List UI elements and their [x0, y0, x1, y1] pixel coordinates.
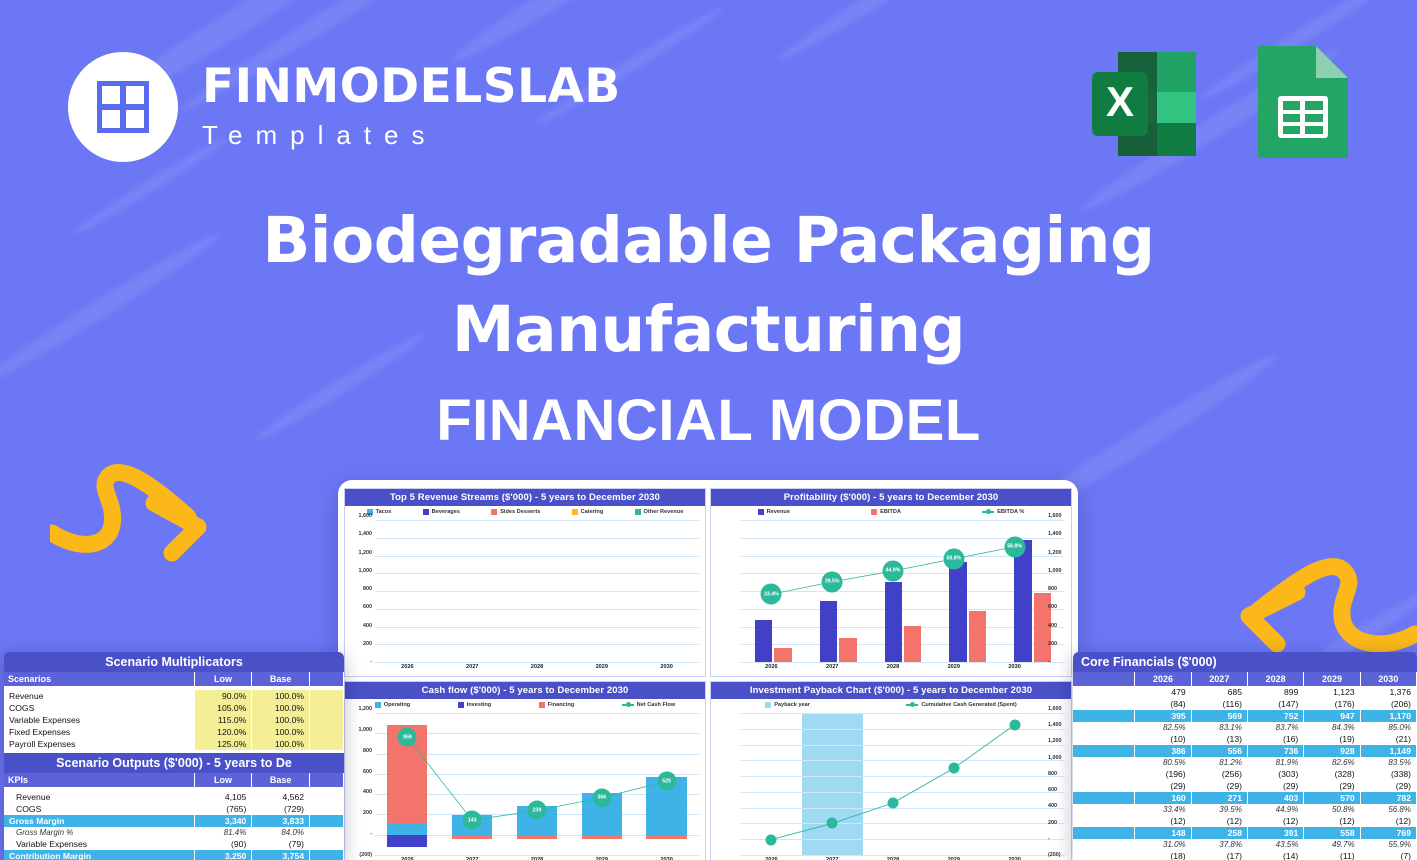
column-header[interactable]: 2027 [1191, 672, 1247, 686]
table-cell: 100.0% [252, 738, 310, 750]
table-cell: 556 [1191, 745, 1247, 757]
table-row[interactable]: (29)(29)(29)(29)(29) [1073, 780, 1417, 792]
table-cell: 83.1% [1191, 722, 1247, 733]
chart-profitability[interactable]: Profitability ($'000) - 5 years to Decem… [710, 488, 1072, 677]
data-label-bubble: 33.4% [761, 584, 782, 605]
x-axis-tick: 2030 [634, 662, 699, 676]
table-cell: 90.0% [194, 690, 252, 702]
data-label-bubble: 56.8% [1004, 536, 1025, 557]
table-cell: 3,250 [194, 850, 252, 860]
row-label [1073, 733, 1135, 745]
table-cell: (11) [1304, 850, 1360, 860]
scenario-multiplicators-title: Scenario Multiplicators [4, 652, 344, 672]
y-axis-tick: 1,200 [1048, 550, 1062, 556]
row-label: Contribution Margin [4, 850, 194, 860]
y-axis-tick: 400 [1048, 623, 1057, 629]
table-row[interactable]: Gross Margin3,3403,833 [4, 815, 344, 827]
table-cell [310, 702, 344, 714]
legend-label: Operating [384, 702, 410, 708]
legend-swatch [572, 509, 578, 515]
row-label: COGS [4, 803, 194, 815]
legend-swatch [539, 702, 545, 708]
legend-item[interactable]: EBITDA [871, 509, 901, 515]
x-axis-tick: 2027 [440, 662, 505, 676]
scenario-sheet[interactable]: Scenario Multiplicators ScenariosLowBase… [4, 652, 344, 860]
table-cell: 769 [1360, 827, 1416, 839]
table-cell: (12) [1304, 815, 1360, 827]
table-cell: (17) [1191, 850, 1247, 860]
svg-text:X: X [1106, 78, 1134, 125]
y-axis-tick: 400 [363, 623, 372, 629]
chart-plot-area: 33.4%39.5%44.9%50.8%56.8% -2004006008001… [711, 516, 1071, 676]
table-cell: (206) [1360, 698, 1416, 710]
table-cell [310, 738, 344, 750]
table-cell: (765) [194, 803, 252, 815]
chart-legend: TacosBeveragesSides DessertsCateringOthe… [345, 506, 705, 516]
table-cell: Revenue [4, 690, 194, 702]
x-axis-tick: 2029 [923, 662, 984, 676]
scenario-multiplicators-table[interactable]: ScenariosLowBase Revenue90.0%100.0%COGS1… [4, 672, 344, 750]
table-cell: 1,123 [1304, 686, 1360, 698]
table-cell: (13) [1191, 733, 1247, 745]
table-cell: 752 [1247, 710, 1303, 722]
table-cell: (729) [252, 803, 310, 815]
brand-tagline: Templates [202, 120, 621, 151]
row-label [1073, 686, 1135, 698]
chart-title: Top 5 Revenue Streams ($'000) - 5 years … [345, 489, 705, 506]
legend-item[interactable]: Beverages [423, 509, 460, 515]
table-row[interactable]: Contribution Margin3,2503,754 [4, 850, 344, 860]
legend-label: Financing [548, 702, 574, 708]
bar-group[interactable] [505, 520, 570, 662]
column-header[interactable]: Low [194, 773, 252, 787]
table-row[interactable]: (12)(12)(12)(12)(12) [1073, 815, 1417, 827]
table-cell: 100.0% [252, 714, 310, 726]
table-row[interactable]: Variable Expenses115.0%100.0% [4, 714, 344, 726]
legend-item[interactable]: Financing [539, 702, 574, 708]
bar-group[interactable] [569, 520, 634, 662]
legend-swatch [906, 704, 918, 706]
legend-swatch [758, 509, 764, 515]
data-label-bubble: 143 [463, 811, 482, 830]
table-cell: 1,149 [1360, 745, 1416, 757]
table-cell: 80.5% [1135, 757, 1191, 768]
table-cell: 81.9% [1247, 757, 1303, 768]
x-axis-tick: 2028 [863, 662, 924, 676]
table-cell: 81.4% [194, 827, 252, 838]
table-cell: 100.0% [252, 702, 310, 714]
table-cell: 271 [1191, 792, 1247, 804]
row-label [1073, 698, 1135, 710]
table-cell: 782 [1360, 792, 1416, 804]
table-cell: (12) [1247, 815, 1303, 827]
legend-label: Cumulative Cash Generated (Spent) [921, 702, 1016, 708]
x-axis-tick: 2029 [569, 662, 634, 676]
row-label [1073, 768, 1135, 780]
table-cell: 391 [1247, 827, 1303, 839]
x-axis-tick: 2026 [375, 855, 440, 860]
table-cell: 1,376 [1360, 686, 1416, 698]
x-axis-tick: 2029 [569, 855, 634, 860]
table-row[interactable]: (10)(13)(16)(19)(21) [1073, 733, 1417, 745]
column-header[interactable]: Base [252, 672, 310, 686]
column-header[interactable] [310, 773, 344, 787]
table-cell: (29) [1135, 780, 1191, 792]
table-cell: (328) [1304, 768, 1360, 780]
table-header-row: ScenariosLowBase [4, 672, 344, 686]
y-axis-tick: 1,200 [1048, 738, 1062, 744]
y-axis-tick: 1,600 [359, 513, 373, 519]
legend-item[interactable]: Sides Desserts [491, 509, 540, 515]
table-row[interactable]: 31.0%37.8%43.5%49.7%55.9% [1073, 839, 1417, 850]
y-axis-tick: 600 [363, 769, 372, 775]
x-axis-tick: 2027 [440, 855, 505, 860]
x-axis-tick: 2028 [505, 855, 570, 860]
table-cell: 50.8% [1304, 804, 1360, 815]
y-axis-tick: 200 [363, 810, 372, 816]
table-cell: 44.9% [1247, 804, 1303, 815]
table-cell: 3,340 [194, 815, 252, 827]
table-cell: (12) [1360, 815, 1416, 827]
table-cell: 570 [1304, 792, 1360, 804]
legend-swatch [423, 509, 429, 515]
table-row[interactable]: COGS105.0%100.0% [4, 702, 344, 714]
table-row[interactable]: (196)(256)(303)(328)(338) [1073, 768, 1417, 780]
data-label-bubble: 50.8% [943, 548, 964, 569]
table-row[interactable]: 148258391558769 [1073, 827, 1417, 839]
table-cell: 105.0% [194, 702, 252, 714]
legend-label: Payback year [774, 702, 810, 708]
chart-investment-payback[interactable]: Investment Payback Chart ($'000) - 5 yea… [710, 681, 1072, 860]
table-cell: 4,562 [252, 791, 310, 803]
y-axis-tick: 800 [363, 748, 372, 754]
brand-name: FINMODELSLAB [202, 63, 621, 110]
table-cell: 4,105 [194, 791, 252, 803]
table-cell: (29) [1191, 780, 1247, 792]
page-title: Biodegradable Packaging Manufacturing FI… [0, 196, 1417, 454]
column-header[interactable]: Low [194, 672, 252, 686]
chart-cash-flow[interactable]: Cash flow ($'000) - 5 years to December … [344, 681, 706, 860]
y-axis-tick: 1,200 [359, 706, 373, 712]
column-header[interactable] [310, 672, 344, 686]
arrow-right-decoration [1187, 548, 1417, 668]
table-cell: 736 [1247, 745, 1303, 757]
table-cell: 56.8% [1360, 804, 1416, 815]
chart-plot-area: (200)-2004006008001,0001,2001,4001,600 2… [711, 709, 1071, 860]
table-cell: 899 [1247, 686, 1303, 698]
bar-group[interactable] [375, 520, 440, 662]
dashboard-preview-card[interactable]: Top 5 Revenue Streams ($'000) - 5 years … [338, 480, 1078, 860]
table-cell: (147) [1247, 698, 1303, 710]
y-axis-tick: 1,600 [1048, 513, 1062, 519]
legend-swatch [491, 509, 497, 515]
table-cell: 395 [1135, 710, 1191, 722]
legend-item[interactable]: Revenue [758, 509, 790, 515]
excel-icon: X [1078, 38, 1206, 166]
legend-swatch [765, 702, 771, 708]
table-cell: 85.0% [1360, 722, 1416, 733]
table-row[interactable]: Revenue4,1054,562 [4, 791, 344, 803]
legend-item[interactable]: Investing [458, 702, 492, 708]
table-row[interactable]: Revenue90.0%100.0% [4, 690, 344, 702]
data-point [948, 763, 959, 774]
chart-title: Cash flow ($'000) - 5 years to December … [345, 682, 705, 699]
bar-group[interactable] [440, 520, 505, 662]
table-row[interactable]: (18)(17)(14)(11)(7) [1073, 850, 1417, 860]
table-cell: (29) [1247, 780, 1303, 792]
table-row[interactable]: COGS(765)(729) [4, 803, 344, 815]
legend-label: Investing [467, 702, 492, 708]
legend-item[interactable]: Net Cash Flow [622, 702, 676, 708]
x-axis-tick: 2028 [863, 855, 924, 860]
legend-label: Net Cash Flow [637, 702, 676, 708]
table-row[interactable]: Payroll Expenses125.0%100.0% [4, 738, 344, 750]
legend-label: EBITDA [880, 509, 901, 515]
column-header[interactable]: 2026 [1135, 672, 1191, 686]
y-axis-tick: 800 [363, 586, 372, 592]
table-cell [310, 827, 344, 838]
legend-item[interactable]: Cumulative Cash Generated (Spent) [906, 702, 1016, 708]
data-label-bubble: 959 [398, 728, 417, 747]
table-cell: Fixed Expenses [4, 726, 194, 738]
legend-item[interactable]: Other Revenue [635, 509, 684, 515]
legend-label: Beverages [432, 509, 460, 515]
y-axis-tick: 1,200 [359, 550, 373, 556]
legend-label: EBITDA % [997, 509, 1024, 515]
data-label-bubble: 44.9% [883, 560, 904, 581]
table-cell: 100.0% [252, 726, 310, 738]
row-label: Revenue [4, 791, 194, 803]
table-cell: (14) [1247, 850, 1303, 860]
x-axis-tick: 2028 [505, 662, 570, 676]
table-cell: (338) [1360, 768, 1416, 780]
legend-item[interactable]: Payback year [765, 702, 810, 708]
table-cell: (12) [1135, 815, 1191, 827]
table-cell [310, 791, 344, 803]
x-axis-tick: 2027 [802, 855, 863, 860]
table-cell: (176) [1304, 698, 1360, 710]
table-row[interactable]: 4796858991,1231,376 [1073, 686, 1417, 698]
chart-legend: RevenueEBITDAEBITDA % [711, 506, 1071, 516]
core-financials-title: Core Financials ($'000) [1073, 652, 1417, 672]
table-cell: 125.0% [194, 738, 252, 750]
google-sheets-icon [1244, 38, 1362, 166]
y-axis-tick: (200) [359, 852, 372, 858]
chart-legend: OperatingInvestingFinancingNet Cash Flow [345, 699, 705, 709]
row-label [1073, 757, 1135, 768]
column-header[interactable]: 2029 [1304, 672, 1360, 686]
brand-logo: FINMODELSLAB Templates [68, 52, 621, 162]
table-row[interactable]: 160271403570782 [1073, 792, 1417, 804]
table-row[interactable]: Variable Expenses(90)(79) [4, 838, 344, 850]
chart-plot-area: 959143239366525 (200)-2004006008001,0001… [345, 709, 705, 860]
table-cell [310, 815, 344, 827]
row-label [1073, 850, 1135, 860]
legend-label: Tacos [376, 509, 392, 515]
data-label-bubble: 366 [592, 788, 611, 807]
x-axis-tick: 2026 [741, 855, 802, 860]
table-cell: 160 [1135, 792, 1191, 804]
legend-label: Revenue [767, 509, 790, 515]
y-axis-tick: - [370, 659, 372, 665]
y-axis-tick: 200 [1048, 820, 1057, 826]
y-axis-tick: 1,000 [359, 727, 373, 733]
legend-swatch [871, 509, 877, 515]
legend-label: Sides Desserts [500, 509, 540, 515]
table-row[interactable]: 80.5%81.2%81.9%82.6%83.5% [1073, 757, 1417, 768]
legend-swatch [982, 511, 994, 513]
table-cell [310, 714, 344, 726]
bar-group[interactable] [634, 520, 699, 662]
table-cell: 84.0% [252, 827, 310, 838]
y-axis-tick: - [1048, 836, 1050, 842]
table-cell: (29) [1304, 780, 1360, 792]
table-cell: 39.5% [1191, 804, 1247, 815]
y-axis-tick: 800 [1048, 586, 1057, 592]
arrow-left-decoration [50, 455, 250, 575]
legend-label: Catering [581, 509, 604, 515]
table-cell: (90) [194, 838, 252, 850]
table-row[interactable]: Gross Margin %81.4%84.0% [4, 827, 344, 838]
row-label: Variable Expenses [4, 838, 194, 850]
table-cell: 569 [1191, 710, 1247, 722]
table-cell: Payroll Expenses [4, 738, 194, 750]
y-axis-tick: 200 [1048, 641, 1057, 647]
table-cell: 81.2% [1191, 757, 1247, 768]
table-cell: 928 [1304, 745, 1360, 757]
table-cell: (256) [1191, 768, 1247, 780]
row-label [1073, 839, 1135, 850]
row-label [1073, 815, 1135, 827]
y-axis-tick: 1,000 [1048, 568, 1062, 574]
table-cell: 115.0% [194, 714, 252, 726]
y-axis-tick: 1,400 [1048, 531, 1062, 537]
table-header-row: KPIsLowBase [4, 773, 344, 787]
table-cell: 31.0% [1135, 839, 1191, 850]
row-label [1073, 827, 1135, 839]
row-label [1073, 722, 1135, 733]
core-financials-table[interactable]: 20262027202820292030 4796858991,1231,376… [1073, 672, 1417, 860]
x-axis-tick: 2026 [375, 662, 440, 676]
table-cell: (29) [1360, 780, 1416, 792]
table-row[interactable]: 3955697529471,170 [1073, 710, 1417, 722]
table-cell: 84.3% [1304, 722, 1360, 733]
row-label [1073, 780, 1135, 792]
table-row[interactable]: 33.4%39.5%44.9%50.8%56.8% [1073, 804, 1417, 815]
x-axis-tick: 2030 [634, 855, 699, 860]
column-header[interactable]: Scenarios [4, 672, 194, 686]
table-cell: 386 [1135, 745, 1191, 757]
x-axis-tick: 2026 [741, 662, 802, 676]
scenario-outputs-title: Scenario Outputs ($'000) - 5 years to De [4, 753, 344, 773]
table-header-row: 20262027202820292030 [1073, 672, 1417, 686]
legend-item[interactable]: Operating [375, 702, 410, 708]
table-cell: (12) [1191, 815, 1247, 827]
row-label [1073, 710, 1135, 722]
table-row[interactable]: 82.5%83.1%83.7%84.3%85.0% [1073, 722, 1417, 733]
scenario-outputs-table[interactable]: KPIsLowBase Revenue4,1054,562COGS(765)(7… [4, 773, 344, 860]
data-label-bubble: 525 [657, 772, 676, 791]
row-label [1073, 804, 1135, 815]
x-axis-tick: 2030 [984, 855, 1045, 860]
chart-title: Profitability ($'000) - 5 years to Decem… [711, 489, 1071, 506]
row-label [1073, 792, 1135, 804]
y-axis-tick: 200 [363, 641, 372, 647]
table-cell: 120.0% [194, 726, 252, 738]
y-axis-tick: (200) [1048, 852, 1061, 858]
column-header[interactable]: 2030 [1360, 672, 1416, 686]
data-point [827, 818, 838, 829]
table-row[interactable]: (84)(116)(147)(176)(206) [1073, 698, 1417, 710]
table-cell: 37.8% [1191, 839, 1247, 850]
logo-circle-badge [68, 52, 178, 162]
table-cell: 83.5% [1360, 757, 1416, 768]
chart-revenue-streams[interactable]: Top 5 Revenue Streams ($'000) - 5 years … [344, 488, 706, 677]
y-axis-tick: 400 [363, 789, 372, 795]
y-axis-tick: 1,400 [359, 531, 373, 537]
table-cell [310, 838, 344, 850]
data-point [888, 797, 899, 808]
y-axis-tick: - [1048, 659, 1050, 665]
data-point [1009, 719, 1020, 730]
y-axis-tick: 1,400 [1048, 722, 1062, 728]
table-cell: 479 [1135, 686, 1191, 698]
table-cell: 43.5% [1247, 839, 1303, 850]
table-cell [310, 726, 344, 738]
core-financials-sheet[interactable]: Core Financials ($'000) 2026202720282029… [1073, 652, 1417, 860]
data-point [766, 834, 777, 845]
table-cell: (19) [1304, 733, 1360, 745]
column-header[interactable]: 2028 [1247, 672, 1303, 686]
y-axis-tick: 1,000 [359, 568, 373, 574]
y-axis-tick: 600 [363, 604, 372, 610]
grid-logo-icon [97, 81, 149, 133]
column-header[interactable]: KPIs [4, 773, 194, 787]
title-line-1: Biodegradable Packaging [0, 196, 1417, 285]
row-label: Gross Margin % [4, 827, 194, 838]
table-row[interactable]: 3865567369281,149 [1073, 745, 1417, 757]
title-line-2: Manufacturing [0, 285, 1417, 374]
table-cell: 55.9% [1360, 839, 1416, 850]
table-cell: 82.6% [1304, 757, 1360, 768]
legend-label: Other Revenue [644, 509, 684, 515]
table-cell: Variable Expenses [4, 714, 194, 726]
table-cell: (18) [1135, 850, 1191, 860]
legend-swatch [375, 702, 381, 708]
table-cell: (21) [1360, 733, 1416, 745]
column-header[interactable]: Base [252, 773, 310, 787]
data-label-bubble: 239 [528, 801, 547, 820]
table-cell: COGS [4, 702, 194, 714]
y-axis-tick: 600 [1048, 604, 1057, 610]
y-axis-tick: 800 [1048, 771, 1057, 777]
table-cell: 82.5% [1135, 722, 1191, 733]
table-cell: 148 [1135, 827, 1191, 839]
table-cell: (79) [252, 838, 310, 850]
row-label: Gross Margin [4, 815, 194, 827]
title-line-3: FINANCIAL MODEL [0, 387, 1417, 454]
legend-item[interactable]: Catering [572, 509, 604, 515]
legend-item[interactable]: EBITDA % [982, 509, 1024, 515]
table-cell: 947 [1304, 710, 1360, 722]
row-label [1073, 745, 1135, 757]
y-axis-tick: 1,600 [1048, 706, 1062, 712]
chart-plot-area: -2004006008001,0001,2001,4001,600 202620… [345, 516, 705, 676]
table-cell [310, 850, 344, 860]
y-axis-tick: - [370, 831, 372, 837]
table-row[interactable]: Fixed Expenses120.0%100.0% [4, 726, 344, 738]
column-header[interactable] [1073, 672, 1135, 686]
